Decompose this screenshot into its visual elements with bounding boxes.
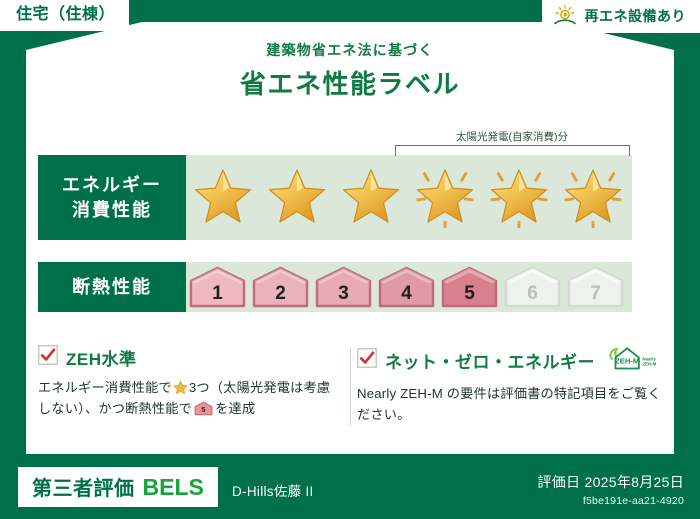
insulation-level-4: 4	[375, 262, 438, 312]
certificate-id: f5be191e-aa21-4920	[537, 495, 684, 507]
claim-net-zero-energy: ネット・ゼロ・エネルギー ZEH-M Nearly ZEH-M Nearly Z…	[357, 345, 662, 426]
star-icon	[562, 168, 624, 228]
inline-level-badge-icon: 5	[192, 401, 215, 416]
insulation-level-1: 1	[186, 262, 249, 312]
check-icon	[357, 348, 377, 373]
third-party-eval-label: 第三者評価	[32, 472, 135, 501]
label-title: 省エネ性能ラベル	[0, 64, 700, 101]
energy-performance-body: 太陽光発電(自家消費)分	[186, 155, 632, 240]
svg-text:1: 1	[212, 283, 223, 304]
claim-zeh-title: ZEH水準	[66, 345, 137, 370]
label-subtitle: 建築物省エネ法に基づく	[0, 40, 700, 60]
solar-contribution-note: 太陽光発電(自家消費)分	[393, 129, 631, 144]
house-badge-icon: 2	[250, 265, 311, 309]
title-block: 建築物省エネ法に基づく 省エネ性能ラベル	[0, 40, 700, 101]
insulation-level-5: 5	[438, 262, 501, 312]
bels-certification-badge: 第三者評価 BELS	[18, 467, 218, 507]
energy-star-rating	[186, 155, 632, 240]
renewable-energy-label: 再エネ設備あり	[585, 6, 687, 26]
energy-performance-label: エネルギー 消費性能	[38, 155, 186, 240]
footer-meta: 評価日 2025年8月25日 f5be191e-aa21-4920	[537, 472, 684, 507]
energy-label-line2: 消費性能	[62, 198, 162, 222]
energy-performance-row: エネルギー 消費性能 太陽光発電(自家消費)分	[38, 155, 632, 240]
house-badge-icon: 1	[187, 265, 248, 309]
insulation-level-3: 3	[312, 262, 375, 312]
evaluation-date: 評価日 2025年8月25日	[537, 472, 684, 492]
house-badge-icon: 3	[313, 265, 374, 309]
claim-zeh-text-1: エネルギー消費性能で	[38, 380, 172, 395]
house-badge-icon: 6	[502, 265, 563, 309]
star-6	[556, 155, 630, 240]
claim-nze-body: Nearly ZEH-M の要件は評価書の特記項目をご覧ください。	[357, 383, 662, 426]
star-icon	[266, 168, 328, 228]
insulation-level-6: 6	[501, 262, 564, 312]
star-2	[260, 155, 334, 240]
star-3	[334, 155, 408, 240]
svg-text:5: 5	[201, 406, 205, 415]
zeh-m-logo-icon: ZEH-M Nearly ZEH-M	[603, 345, 657, 376]
claim-zeh-text-3: を達成	[215, 401, 255, 416]
star-4	[408, 155, 482, 240]
svg-text:ZEH-M: ZEH-M	[642, 361, 656, 366]
check-icon	[38, 345, 58, 370]
svg-text:4: 4	[401, 283, 412, 304]
star-icon	[414, 168, 476, 228]
insulation-level-scale: 1234567	[186, 262, 632, 312]
star-icon	[488, 168, 550, 228]
svg-text:3: 3	[338, 283, 349, 304]
claims-section: ZEH水準 エネルギー消費性能で3つ（太陽光発電は考慮しない）、かつ断熱性能で5…	[38, 345, 662, 426]
inline-star-icon	[172, 380, 189, 395]
star-1	[186, 155, 260, 240]
house-badge-icon: 5	[439, 265, 500, 309]
energy-label-card: 住宅（住棟） 再エネ設備あり 建築物省エネ法に基づく 省エネ性能ラベル	[0, 0, 700, 519]
insulation-level-2: 2	[249, 262, 312, 312]
claim-nze-title: ネット・ゼロ・エネルギー	[385, 348, 595, 373]
svg-text:7: 7	[590, 283, 601, 304]
svg-text:2: 2	[275, 283, 286, 304]
insulation-performance-label: 断熱性能	[38, 262, 186, 312]
claim-zeh-standard: ZEH水準 エネルギー消費性能で3つ（太陽光発電は考慮しない）、かつ断熱性能で5…	[38, 345, 343, 426]
building-name: D-Hills佐藤 II	[232, 480, 314, 500]
svg-text:ZEH-M: ZEH-M	[615, 357, 639, 366]
star-icon	[340, 168, 402, 228]
house-badge-icon: 4	[376, 265, 437, 309]
claim-zeh-header: ZEH水準	[38, 345, 343, 370]
renewable-energy-badge: 再エネ設備あり	[542, 0, 700, 33]
housing-type-tab: 住宅（住棟）	[0, 0, 129, 31]
housing-type-label: 住宅（住棟）	[16, 6, 115, 23]
svg-text:5: 5	[464, 283, 475, 304]
insulation-performance-row: 断熱性能 1234567	[38, 262, 632, 312]
claim-nze-header: ネット・ゼロ・エネルギー ZEH-M Nearly ZEH-M	[357, 345, 662, 376]
star-5	[482, 155, 556, 240]
bels-label: BELS	[143, 474, 204, 501]
solar-sun-icon	[552, 4, 578, 28]
energy-label-line1: エネルギー	[62, 173, 162, 197]
svg-text:6: 6	[527, 283, 538, 304]
house-badge-icon: 7	[565, 265, 626, 309]
star-icon	[192, 168, 254, 228]
insulation-level-7: 7	[564, 262, 627, 312]
claim-zeh-body: エネルギー消費性能で3つ（太陽光発電は考慮しない）、かつ断熱性能で5を達成	[38, 377, 343, 420]
insulation-performance-body: 1234567	[186, 262, 632, 312]
